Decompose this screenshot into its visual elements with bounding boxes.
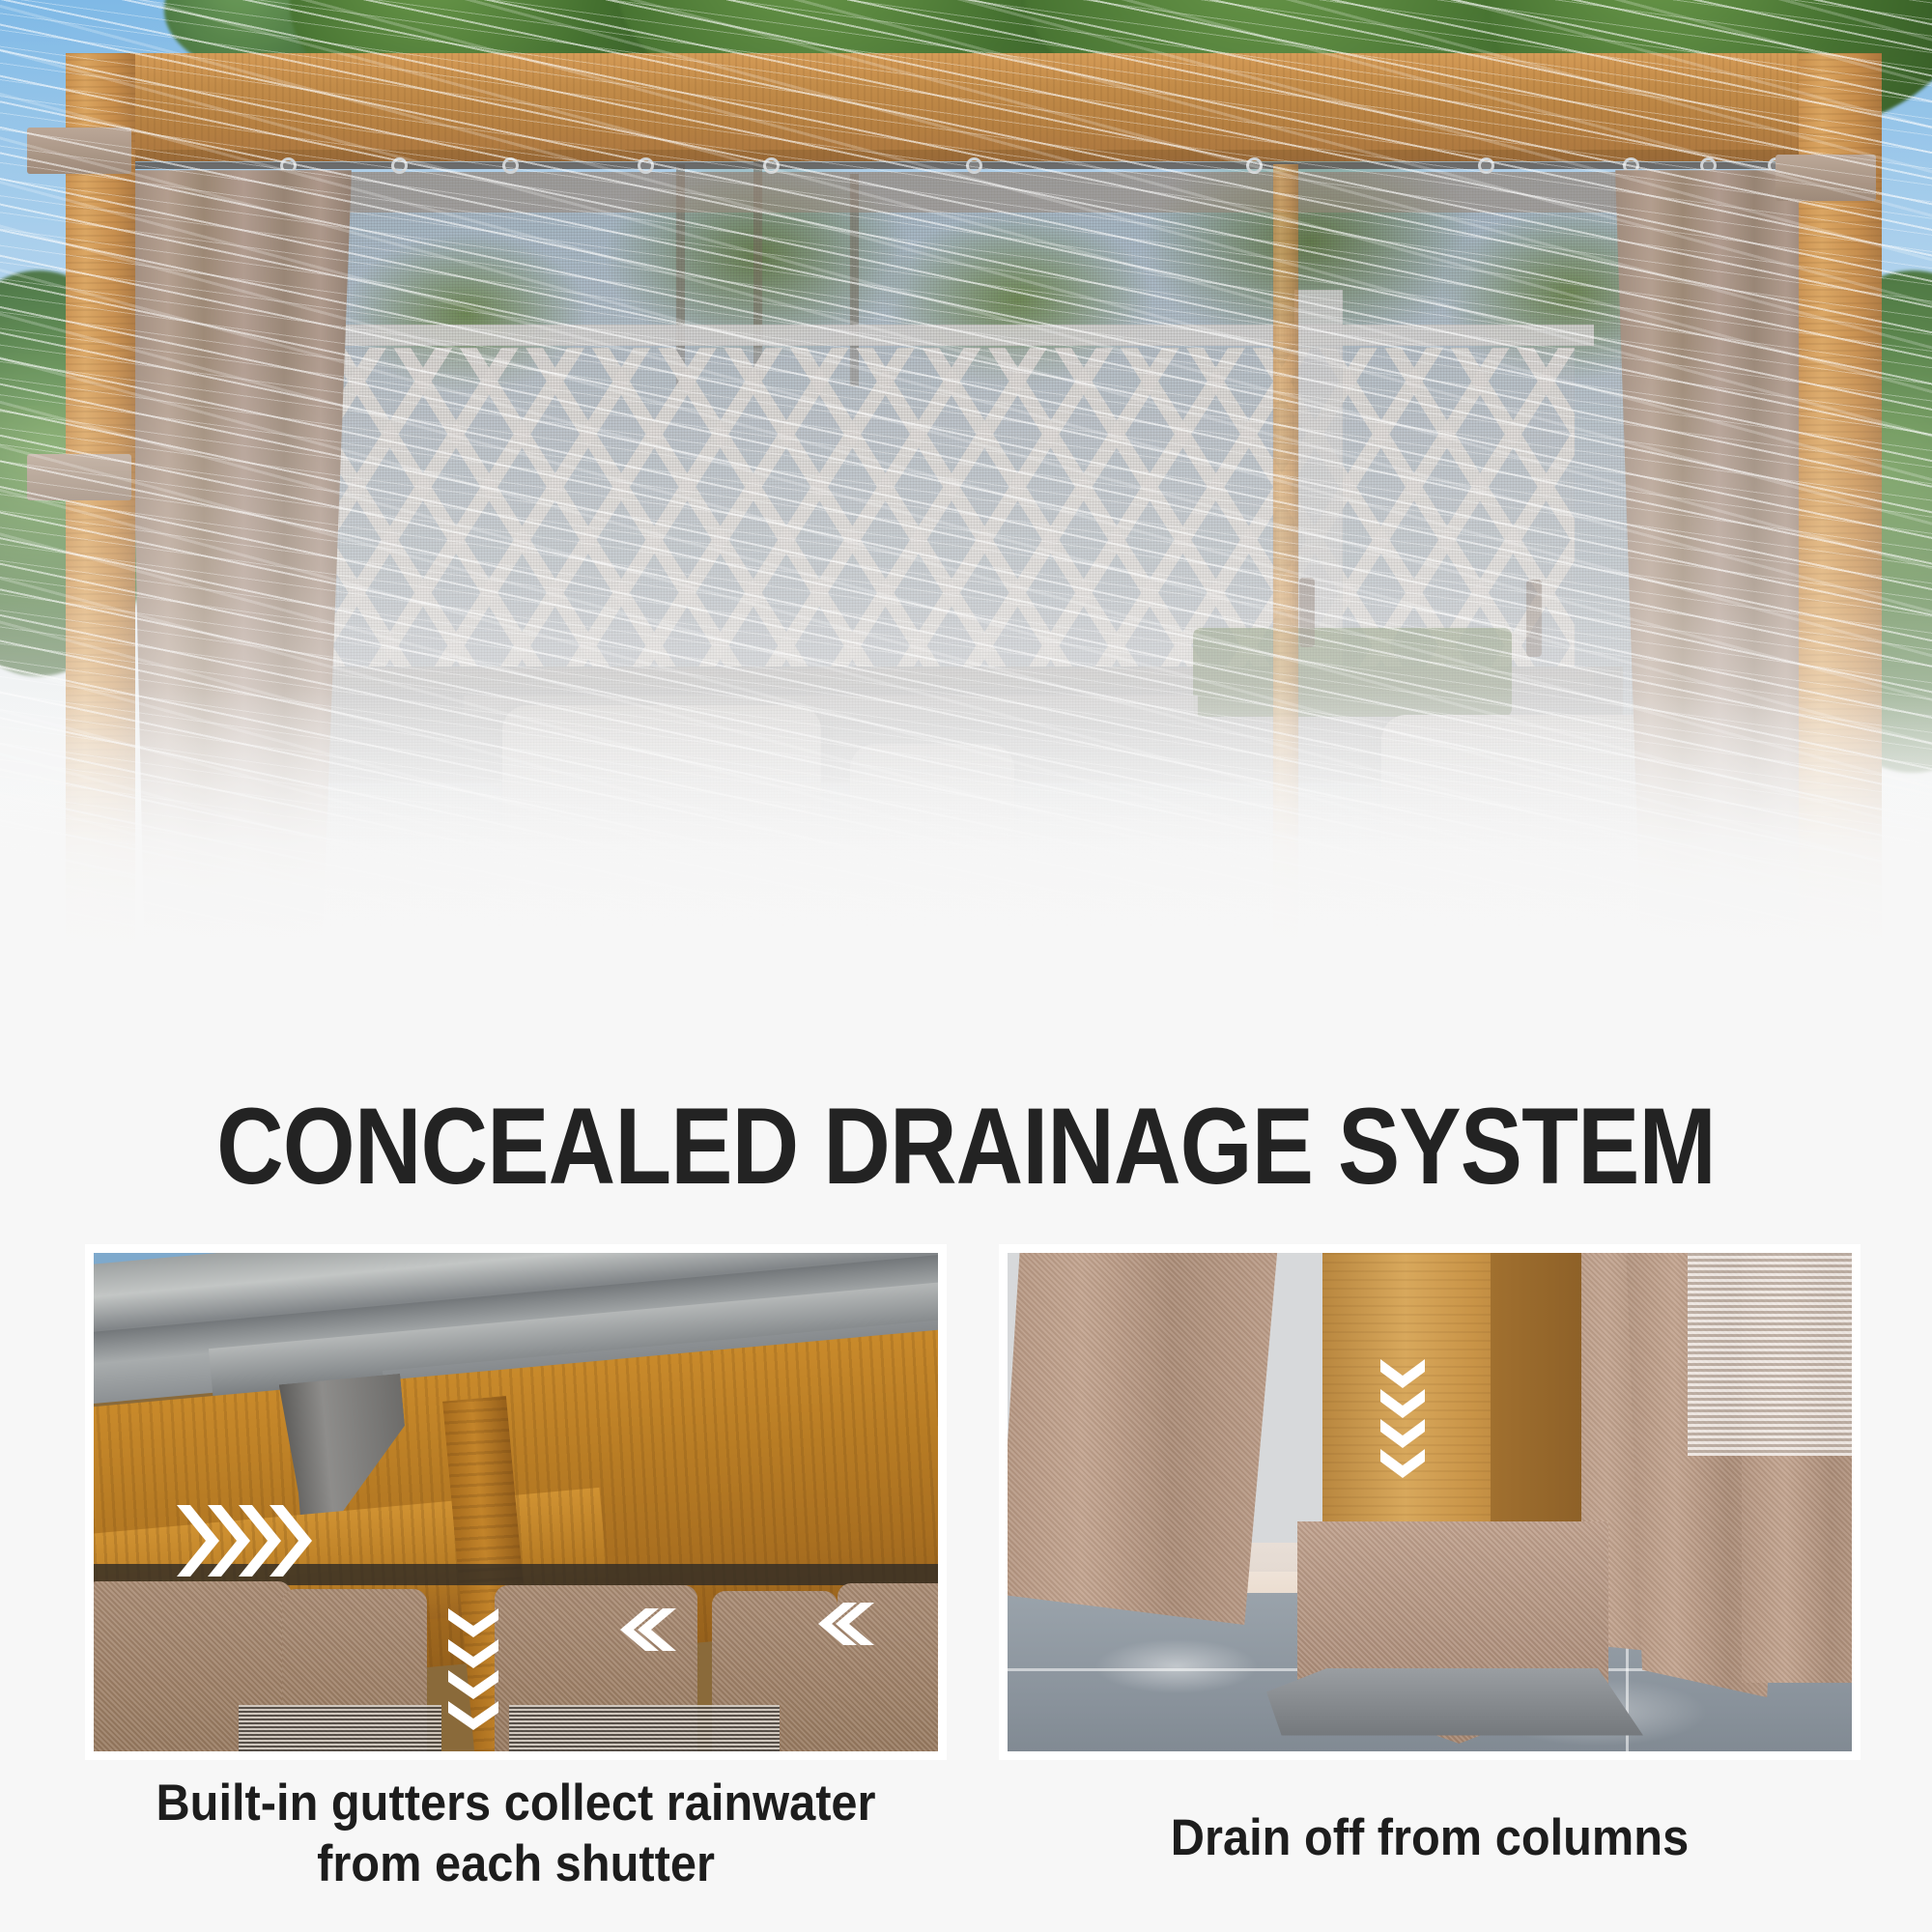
product-feature-page: CONCEALED DRAINAGE SYSTEM	[0, 0, 1932, 1932]
column-flow-down-chevron	[1378, 1359, 1428, 1481]
gutter-flow-down-chevron	[444, 1608, 502, 1734]
caption-columns: Drain off from columns	[1034, 1808, 1827, 1869]
curtain-drape-left	[1008, 1253, 1278, 1625]
page-title: CONCEALED DRAINAGE SYSTEM	[135, 1090, 1797, 1204]
gutter-flow-left-chevron-a	[620, 1605, 676, 1655]
gutter-scene	[94, 1253, 938, 1751]
column-drain-image	[1008, 1253, 1852, 1751]
gutter-flow-right-chevron	[177, 1499, 312, 1582]
mesh-strip	[509, 1705, 780, 1751]
feature-card-columns	[999, 1244, 1861, 1760]
hero-bottom-fade	[0, 686, 1932, 976]
cushion-row	[94, 1568, 938, 1751]
hero-image	[0, 0, 1932, 976]
mesh-panel	[1688, 1253, 1852, 1456]
gutter-detail-image	[94, 1253, 938, 1751]
feature-card-gutters	[85, 1244, 947, 1760]
column-scene	[1008, 1253, 1852, 1751]
gutter-flow-left-chevron-b	[818, 1599, 874, 1649]
caption-gutters: Built-in gutters collect rainwater from …	[120, 1774, 913, 1894]
mesh-strip	[239, 1705, 441, 1751]
